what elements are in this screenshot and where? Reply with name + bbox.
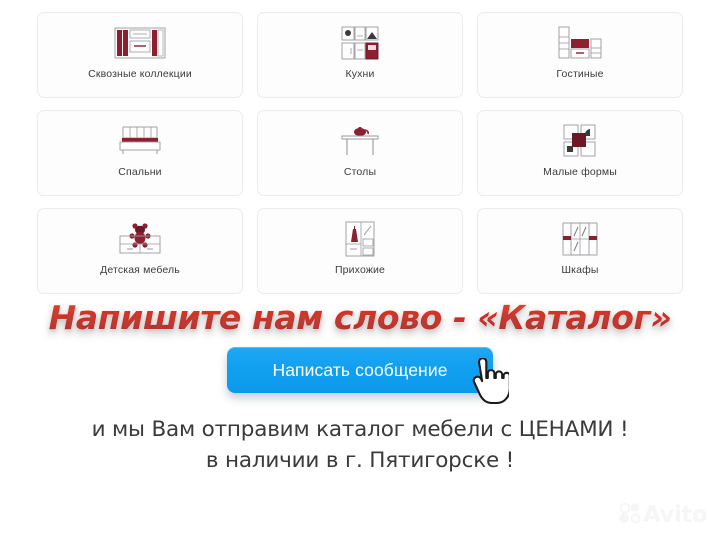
category-label: Сквозные коллекции [88, 68, 192, 80]
category-label: Шкафы [561, 264, 598, 276]
page-title: Напишите нам слово - «Каталог» [49, 298, 672, 337]
hallway-icon [345, 220, 375, 258]
avito-watermark: Avito [619, 502, 707, 529]
cta-container: Написать сообщение [0, 347, 720, 393]
category-label: Кухни [345, 68, 374, 80]
category-label: Гостиные [556, 68, 603, 80]
promo-subtext: и мы Вам отправим каталог мебели с ЦЕНАМ… [0, 414, 720, 476]
category-card-kids-furniture[interactable]: Детская мебель [37, 208, 243, 294]
category-label: Детская мебель [100, 264, 180, 276]
category-label: Прихожие [335, 264, 385, 276]
category-label: Столы [344, 166, 376, 178]
promo-subtext-line2: в наличии в г. Пятигорске ! [0, 445, 720, 476]
category-card-wardrobe[interactable]: Шкафы [477, 208, 683, 294]
headline-container: Напишите нам слово - «Каталог» [0, 298, 720, 337]
promo-subtext-line1: и мы Вам отправим каталог мебели с ЦЕНАМ… [92, 417, 629, 442]
small-forms-icon [563, 122, 597, 160]
category-card-small-forms[interactable]: Малые формы [477, 110, 683, 196]
kids-furniture-icon [118, 220, 162, 258]
category-card-wall-unit[interactable]: Сквозные коллекции [37, 12, 243, 98]
category-card-living-room[interactable]: Гостиные [477, 12, 683, 98]
category-card-hallway[interactable]: Прихожие [257, 208, 463, 294]
category-card-kitchen[interactable]: Кухни [257, 12, 463, 98]
kitchen-icon [341, 24, 379, 62]
category-label: Спальни [118, 166, 161, 178]
category-card-tables[interactable]: Столы [257, 110, 463, 196]
living-room-icon [557, 24, 603, 62]
page-root: Сквозные коллекции [0, 0, 720, 540]
category-label: Малые формы [543, 166, 617, 178]
wardrobe-icon [562, 220, 598, 258]
wall-unit-icon [114, 24, 166, 62]
avito-logo-icon [619, 502, 641, 529]
table-icon [340, 122, 380, 160]
send-message-button[interactable]: Написать сообщение [227, 347, 493, 393]
category-grid: Сквозные коллекции [37, 12, 683, 294]
bed-icon [118, 122, 162, 160]
category-card-bedroom[interactable]: Спальни [37, 110, 243, 196]
avito-watermark-text: Avito [643, 504, 707, 527]
